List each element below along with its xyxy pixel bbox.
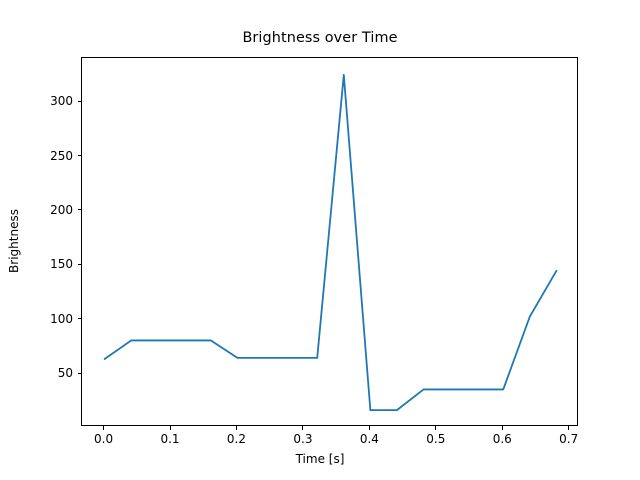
x-tick-label: 0.4 — [360, 432, 379, 446]
y-tick-label: 300 — [40, 94, 73, 108]
x-tick-label: 0.1 — [160, 432, 179, 446]
x-tick-label: 0.0 — [94, 432, 113, 446]
y-tick-label: 250 — [40, 149, 73, 163]
x-tick-label: 0.5 — [426, 432, 445, 446]
x-tick-label: 0.7 — [559, 432, 578, 446]
y-tick-label: 200 — [40, 203, 73, 217]
brightness-line — [105, 75, 557, 410]
x-tick-label: 0.3 — [293, 432, 312, 446]
y-tick-label: 100 — [40, 312, 73, 326]
x-axis-label: Time [s] — [0, 452, 640, 466]
y-tick-label: 150 — [40, 257, 73, 271]
chart-title: Brightness over Time — [0, 30, 640, 46]
y-axis-label: Brightness — [7, 209, 21, 273]
y-tick-label: 50 — [40, 366, 73, 380]
matplotlib-figure: Brightness over Time Brightness Time [s]… — [0, 0, 640, 480]
data-line-series — [82, 58, 579, 427]
x-tick-label: 0.6 — [493, 432, 512, 446]
x-tick-label: 0.2 — [227, 432, 246, 446]
plot-area — [81, 57, 578, 426]
